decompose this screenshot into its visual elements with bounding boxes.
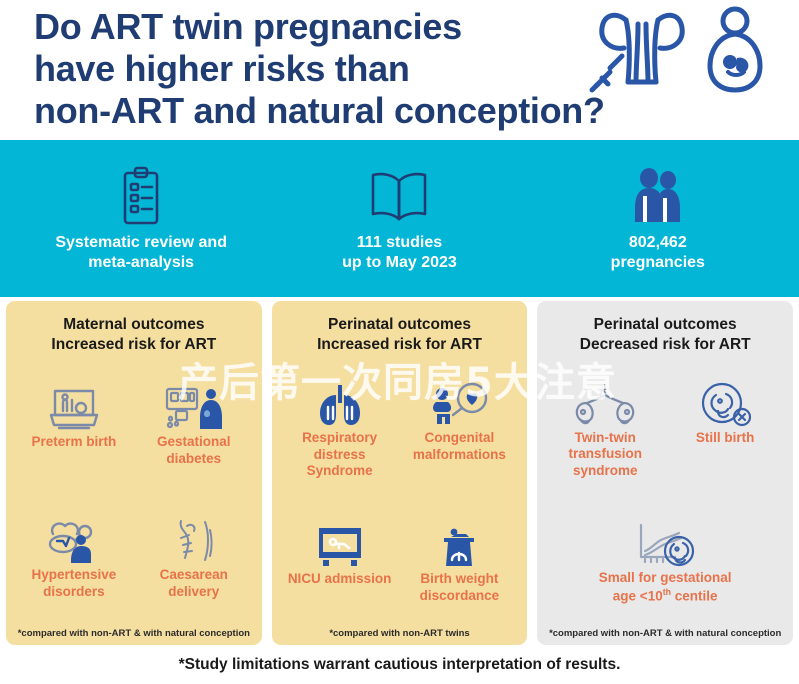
outcome-congenital-malformations-label: Congenital malformations xyxy=(413,430,506,463)
outcome-gestational-diabetes-l1: Gestational xyxy=(157,434,231,450)
banner-label-studies-l2: up to May 2023 xyxy=(342,253,457,273)
outcome-gestational-diabetes-label: Gestational diabetes xyxy=(157,434,231,467)
outcome-respiratory-distress-l2: Syndrome xyxy=(280,463,400,479)
outcome-nicu-admission-label: NICU admission xyxy=(288,571,392,587)
card-perinatal-increased-title-l2: Increased risk for ART xyxy=(317,335,482,355)
twin-fetuses-placenta-icon xyxy=(572,379,638,427)
outcome-caesarean-delivery-label: Caesarean delivery xyxy=(160,567,228,600)
lungs-icon xyxy=(313,379,367,427)
outcome-sga-l2-pre: age <10 xyxy=(613,588,663,603)
banner-item-method: Systematic review and meta-analysis xyxy=(13,165,269,272)
baby-weighing-scale-icon xyxy=(432,520,486,568)
title-line-1: Do ART twin pregnancies xyxy=(34,6,594,48)
banner-label-method-l1: Systematic review and xyxy=(55,233,227,253)
card-perinatal-increased-title-l1: Perinatal outcomes xyxy=(317,315,482,335)
title-line-2: have higher risks than xyxy=(34,48,594,90)
outcome-small-for-gestational-age: Small for gestational age <10th centile xyxy=(545,519,785,604)
outcome-gestational-diabetes-l2: diabetes xyxy=(157,451,231,467)
outcome-preterm-birth: Preterm birth xyxy=(14,383,134,467)
card-maternal-footnote: *compared with non-ART & with natural co… xyxy=(18,624,250,639)
study-limitations-note: *Study limitations warrant cautious inte… xyxy=(179,656,621,674)
card-perinatal-decreased-grid: Twin-twin transfusion syndrome xyxy=(545,360,785,624)
title-line-3: non-ART and natural conception? xyxy=(34,90,594,132)
outcome-twin-twin-transfusion-l3: syndrome xyxy=(569,463,643,479)
outcome-hypertensive-disorders: Hypertensive disorders xyxy=(14,516,134,600)
outcome-twin-twin-transfusion-l2: transfusion xyxy=(569,446,643,462)
outcome-sga-l1: Small for gestational xyxy=(599,570,732,586)
outcome-sga-l2-post: centile xyxy=(671,588,718,603)
outcome-respiratory-distress: Respiratory distress Syndrome xyxy=(280,379,400,479)
infographic-page: Do ART twin pregnancies have higher risk… xyxy=(0,0,799,684)
card-maternal-outcomes: Maternal outcomes Increased risk for ART xyxy=(6,301,262,645)
baby-heart-magnifier-icon xyxy=(428,379,490,427)
outcome-respiratory-distress-l1: Respiratory distress xyxy=(280,430,400,463)
outcome-congenital-malformations-l1: Congenital xyxy=(413,430,506,446)
stillbirth-fetus-cross-icon xyxy=(696,379,754,427)
outcome-caesarean-delivery: Caesarean delivery xyxy=(134,516,254,600)
pregnant-woman-fetus-icon xyxy=(704,6,766,99)
outcome-hypertensive-disorders-l2: disorders xyxy=(32,584,117,600)
outcome-birth-weight-discordance-l1: Birth weight xyxy=(420,571,500,587)
banner-label-pregnancies-l2: pregnancies xyxy=(611,253,705,273)
card-maternal-grid: Preterm birth xyxy=(14,360,254,624)
outcome-twin-twin-transfusion-l1: Twin-twin xyxy=(569,430,643,446)
banner-label-method: Systematic review and meta-analysis xyxy=(55,233,227,272)
outcome-hypertensive-disorders-label: Hypertensive disorders xyxy=(32,567,117,600)
outcome-birth-weight-discordance-l2: discordance xyxy=(420,588,500,604)
card-perinatal-increased-title: Perinatal outcomes Increased risk for AR… xyxy=(317,315,482,356)
outcome-preterm-birth-label: Preterm birth xyxy=(32,434,117,450)
title-section: Do ART twin pregnancies have higher risk… xyxy=(0,0,799,140)
banner-label-studies-l1: 111 studies xyxy=(342,233,457,253)
summary-banner: Systematic review and meta-analysis 111 … xyxy=(0,140,799,297)
card-maternal-title-l2: Increased risk for ART xyxy=(51,335,216,355)
card-perinatal-decreased-title-l2: Decreased risk for ART xyxy=(580,335,751,355)
outcome-hypertensive-disorders-l1: Hypertensive xyxy=(32,567,117,583)
card-perinatal-decreased-title-l1: Perinatal outcomes xyxy=(580,315,751,335)
card-perinatal-decreased-footnote: *compared with non-ART & with natural co… xyxy=(549,624,781,639)
outcome-still-birth-l1: Still birth xyxy=(696,430,755,446)
outcome-caesarean-delivery-l2: delivery xyxy=(160,584,228,600)
title-icon-group xyxy=(586,4,796,100)
outcome-congenital-malformations-l2: malformations xyxy=(413,447,506,463)
outcome-congenital-malformations: Congenital malformations xyxy=(400,379,520,479)
card-maternal-title-l1: Maternal outcomes xyxy=(51,315,216,335)
outcome-still-birth: Still birth xyxy=(665,379,785,479)
open-book-icon xyxy=(368,165,430,227)
caesarean-scar-icon xyxy=(167,516,221,564)
uterus-syringe-ivf-icon xyxy=(586,6,694,99)
outcome-preterm-birth-l1: Preterm birth xyxy=(32,434,117,450)
growth-chart-fetus-icon xyxy=(627,519,703,567)
page-title: Do ART twin pregnancies have higher risk… xyxy=(0,0,594,131)
incubator-newborn-icon xyxy=(47,383,101,431)
banner-item-pregnancies: 802,462 pregnancies xyxy=(530,165,786,272)
banner-label-pregnancies: 802,462 pregnancies xyxy=(611,233,705,272)
outcome-caesarean-delivery-l1: Caesarean xyxy=(160,567,228,583)
outcome-birth-weight-discordance: Birth weight discordance xyxy=(400,520,520,604)
two-people-icon xyxy=(630,165,686,227)
banner-label-studies: 111 studies up to May 2023 xyxy=(342,233,457,272)
card-maternal-title: Maternal outcomes Increased risk for ART xyxy=(51,315,216,356)
banner-label-method-l2: meta-analysis xyxy=(55,253,227,273)
card-perinatal-decreased-title: Perinatal outcomes Decreased risk for AR… xyxy=(580,315,751,356)
outcome-birth-weight-discordance-label: Birth weight discordance xyxy=(420,571,500,604)
card-perinatal-decreased: Perinatal outcomes Decreased risk for AR… xyxy=(537,301,793,645)
outcome-small-for-gestational-age-label: Small for gestational age <10th centile xyxy=(599,570,732,604)
blood-pressure-pregnant-icon xyxy=(43,516,105,564)
outcome-sga-l2-sup: th xyxy=(663,587,671,597)
glucose-monitor-pregnant-icon xyxy=(163,383,225,431)
card-perinatal-increased: Perinatal outcomes Increased risk for AR… xyxy=(272,301,528,645)
outcome-cards: Maternal outcomes Increased risk for ART xyxy=(0,297,799,645)
banner-label-pregnancies-l1: 802,462 xyxy=(611,233,705,253)
outcome-sga-l2: age <10th centile xyxy=(599,587,732,605)
outcome-nicu-admission-l1: NICU admission xyxy=(288,571,392,587)
nicu-incubator-icon xyxy=(311,520,369,568)
card-perinatal-increased-grid: Respiratory distress Syndrome xyxy=(280,360,520,624)
outcome-twin-twin-transfusion: Twin-twin transfusion syndrome xyxy=(545,379,665,479)
outcome-twin-twin-transfusion-label: Twin-twin transfusion syndrome xyxy=(569,430,643,479)
outcome-still-birth-label: Still birth xyxy=(696,430,755,446)
outcome-gestational-diabetes: Gestational diabetes xyxy=(134,383,254,467)
card-perinatal-increased-footnote: *compared with non-ART twins xyxy=(329,624,469,639)
clipboard-checklist-icon xyxy=(118,165,164,227)
outcome-respiratory-distress-label: Respiratory distress Syndrome xyxy=(280,430,400,479)
outcome-nicu-admission: NICU admission xyxy=(280,520,400,604)
footer-section: *Study limitations warrant cautious inte… xyxy=(0,645,799,684)
banner-item-studies: 111 studies up to May 2023 xyxy=(272,165,528,272)
